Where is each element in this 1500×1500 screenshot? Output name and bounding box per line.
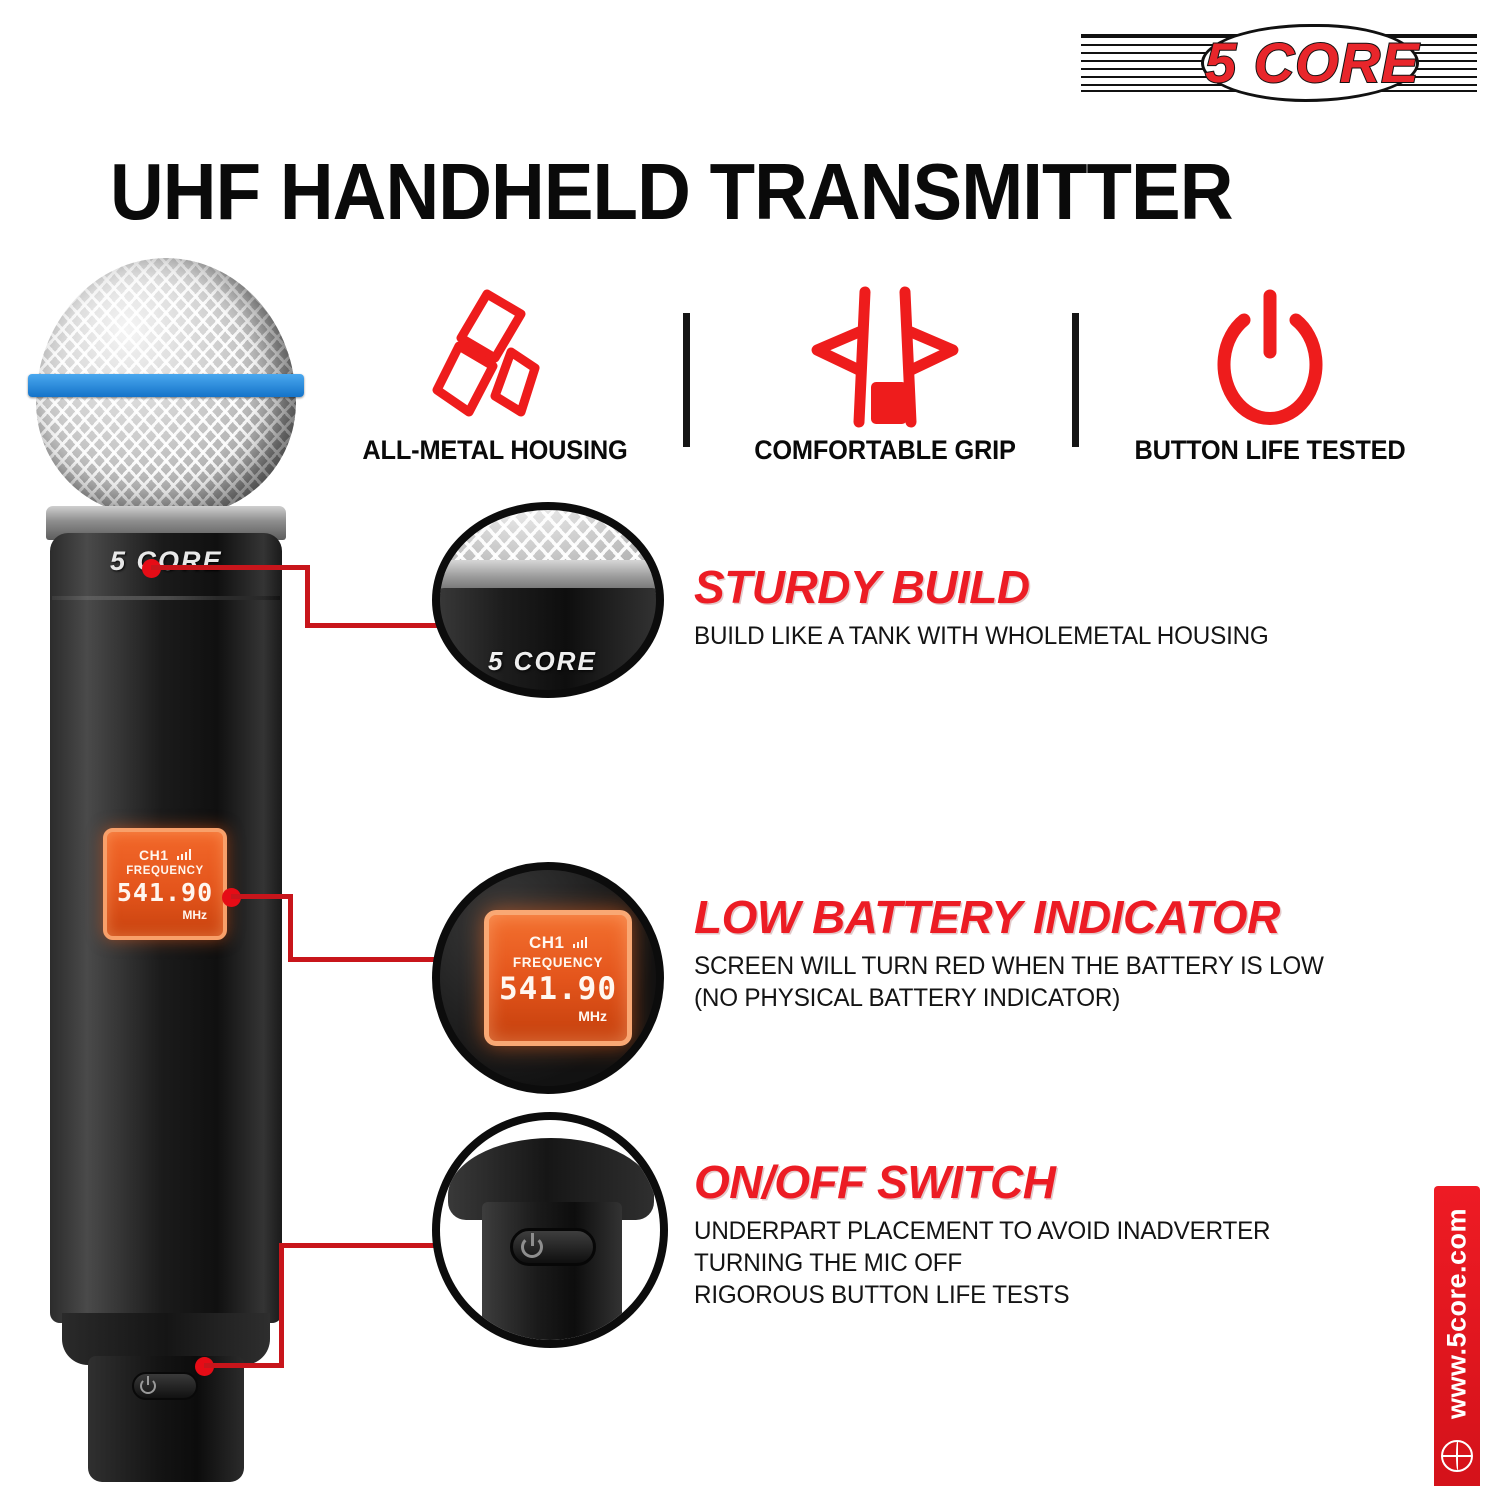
- callout-line-sturdy-a: [151, 565, 310, 570]
- callout-heading: LOW BATTERY INDICATOR: [694, 890, 1343, 944]
- callout-heading: ON/OFF SWITCH: [694, 1155, 1288, 1209]
- callout-body-line: BUILD LIKE A TANK WITH WHOLEMETAL HOUSIN…: [694, 620, 1269, 652]
- brand-logo: 5 CORE: [1073, 20, 1485, 106]
- callout-body-line: UNDERPART PLACEMENT TO AVOID INADVERTER: [694, 1215, 1270, 1247]
- callout-line-switch-c: [279, 1243, 439, 1248]
- zoom-detail-sturdy-build: 5 CORE: [432, 502, 664, 698]
- feature-divider-1: [683, 313, 690, 447]
- feature-label: ALL-METAL HOUSING: [340, 435, 650, 466]
- website-tab[interactable]: www.5core.com: [1434, 1186, 1480, 1486]
- zoom-lcd-channel: CH1: [529, 933, 565, 953]
- page-title: UHF HANDHELD TRANSMITTER: [110, 146, 1338, 238]
- zoom-cap-neck: [482, 1202, 622, 1348]
- top-feature-strip: ALL-METAL HOUSING COMFORTABLE GRIP: [330, 285, 1450, 485]
- mic-power-switch[interactable]: [132, 1372, 198, 1400]
- signal-bars-icon: [177, 849, 192, 860]
- feature-label: COMFORTABLE GRIP: [730, 435, 1040, 466]
- logo-text: 5 CORE: [1205, 28, 1500, 98]
- feature-divider-2: [1072, 313, 1079, 447]
- callout-line-sturdy-b: [305, 565, 310, 628]
- callout-line-battery-b: [288, 894, 293, 962]
- signal-bars-icon: [573, 937, 588, 948]
- lcd-top-row: CH1: [139, 847, 191, 863]
- power-icon: [521, 1236, 543, 1258]
- callout-line-battery-c: [288, 957, 438, 962]
- lcd-frequency-unit: MHz: [182, 908, 207, 922]
- metal-bars-icon: [330, 285, 660, 435]
- microphone-product-image: 5 CORE CH1 FREQUENCY 541.90 MHz: [18, 258, 308, 1488]
- mic-blue-ring: [28, 374, 304, 397]
- callout-body-line: TURNING THE MIC OFF: [694, 1247, 1270, 1279]
- callout-line-sturdy-c: [305, 623, 439, 628]
- www-globe-icon: [1441, 1440, 1473, 1472]
- grip-hand-icon: [720, 285, 1050, 435]
- power-button-icon: [1105, 285, 1435, 435]
- callout-body-line: SCREEN WILL TURN RED WHEN THE BATTERY IS…: [694, 950, 1324, 982]
- zoom-detail-low-battery: CH1 FREQUENCY 541.90 MHz: [432, 862, 664, 1094]
- callout-body-line: RIGOROUS BUTTON LIFE TESTS: [694, 1279, 1270, 1311]
- zoom-lcd-frequency-unit: MHz: [578, 1008, 607, 1024]
- zoom-brand-text: 5 CORE: [488, 646, 597, 677]
- feature-button-life-tested: BUTTON LIFE TESTED: [1105, 285, 1435, 485]
- power-icon: [140, 1378, 156, 1394]
- zoom-lcd-frequency-label: FREQUENCY: [513, 955, 603, 970]
- mic-seam: [52, 596, 280, 600]
- zoom-mic-barrel: [434, 588, 662, 698]
- zoom-lcd-display: CH1 FREQUENCY 541.90 MHz: [484, 910, 632, 1046]
- lcd-frequency-label: FREQUENCY: [126, 865, 204, 877]
- feature-all-metal-housing: ALL-METAL HOUSING: [330, 285, 660, 485]
- feature-label: BUTTON LIFE TESTED: [1115, 435, 1425, 466]
- callout-line-switch-b: [279, 1243, 284, 1368]
- lcd-frequency-value: 541.90: [117, 878, 213, 907]
- zoom-lcd-frequency-value: 541.90: [499, 971, 617, 1007]
- website-url-text: www.5core.com: [1442, 1181, 1473, 1447]
- callout-text-on-off-switch: ON/OFF SWITCH UNDERPART PLACEMENT TO AVO…: [694, 1155, 1288, 1311]
- mic-lcd-display: CH1 FREQUENCY 541.90 MHz: [103, 828, 227, 940]
- zoom-power-switch[interactable]: [510, 1228, 596, 1266]
- callout-line-battery-a: [231, 894, 293, 899]
- zoom-inner-sturdy: 5 CORE: [432, 502, 664, 698]
- feature-comfortable-grip: COMFORTABLE GRIP: [720, 285, 1050, 485]
- zoom-lcd-top-row: CH1: [529, 933, 587, 953]
- lcd-channel: CH1: [139, 847, 169, 863]
- callout-text-sturdy-build: STURDY BUILD BUILD LIKE A TANK WITH WHOL…: [694, 560, 1286, 652]
- callout-heading: STURDY BUILD: [694, 560, 1286, 614]
- callout-body-line: (NO PHYSICAL BATTERY INDICATOR): [694, 982, 1324, 1014]
- mic-body-brand-text: 5 CORE: [110, 546, 223, 577]
- infographic-page: 5 CORE UHF HANDHELD TRANSMITTER ALL-META…: [0, 0, 1500, 1500]
- zoom-detail-on-off-switch: [432, 1112, 668, 1348]
- callout-line-switch-a: [204, 1363, 284, 1368]
- callout-text-low-battery: LOW BATTERY INDICATOR SCREEN WILL TURN R…: [694, 890, 1343, 1014]
